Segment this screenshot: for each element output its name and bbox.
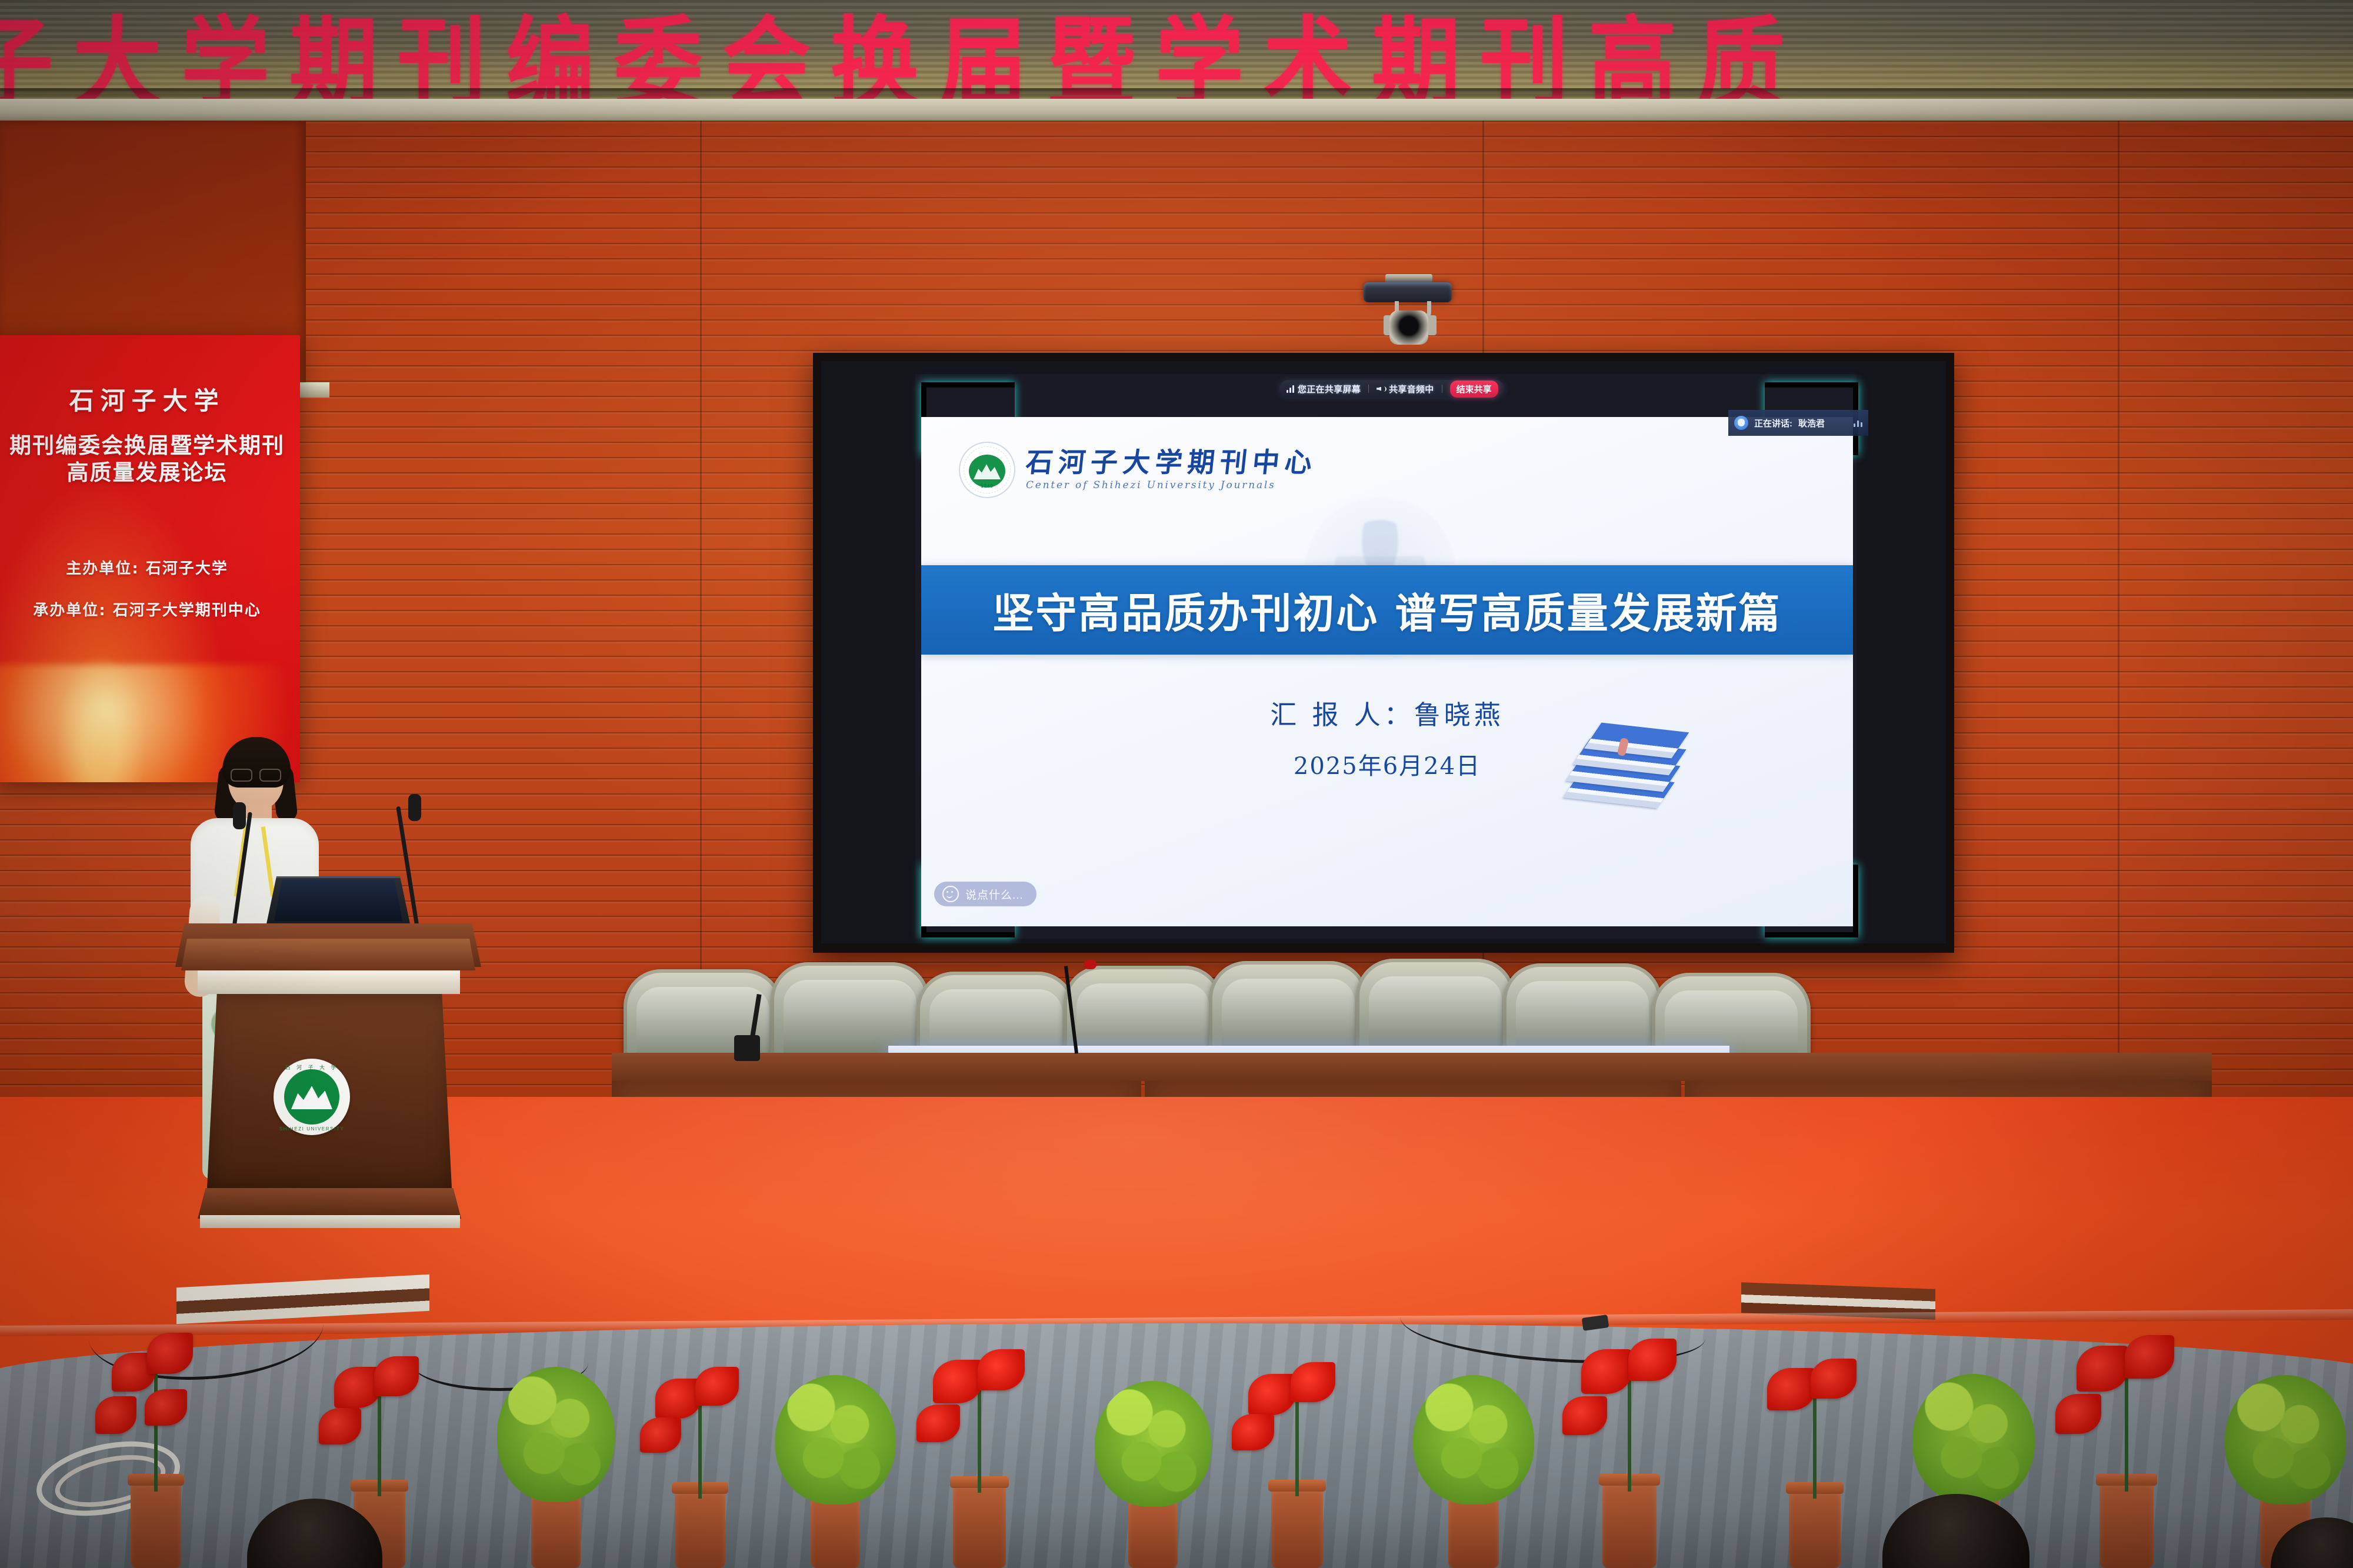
poinsettia-bloom [1248,1374,1295,1415]
gooseneck-microphone-icon [408,794,421,821]
chair [1356,959,1515,1060]
shihezi-university-emblem-icon: 石 河 子 大 学 1949 SHIHEZI UNIVERSITY [274,1059,350,1135]
poinsettia-bloom [933,1360,982,1403]
stacked-books-icon [1568,728,1698,810]
camera-side-ear [1427,315,1437,335]
presenter-glasses-icon [231,769,281,780]
microphone-avatar-icon [1734,416,1748,430]
potted-poinsettia [88,1315,224,1568]
screen-share-toolbar[interactable]: 您正在共享屏幕 共享音频中 结束共享 [1279,380,1504,398]
shihezi-university-seal-icon: 1949 [959,442,1015,498]
flower-pot [131,1480,181,1568]
potted-poinsettia [629,1345,771,1568]
camera-lens-icon [1389,311,1428,345]
wall-seam [700,121,702,1097]
org-logo-en: Center of Shihezi University Journals [1026,479,1317,491]
flower-pot [1128,1496,1178,1568]
conference-hall-scene: 子大学期刊编委会换届暨学术期刊高质 您正在共享屏幕 共享音频中 结束共享 [0,0,2353,1568]
poinsettia-bloom [655,1379,701,1419]
sharing-status: 您正在共享屏幕 [1287,383,1361,395]
voice-level-icon [1854,419,1862,427]
poinsettia-bloom [145,1389,187,1426]
slide-date-line: 2025年6月24日 [921,747,1853,781]
shrub-foliage [1413,1375,1534,1504]
active-speaker-name: 耿浩君 [1798,417,1825,429]
plant-stem [2125,1360,2128,1492]
emblem-arc-bottom: SHIHEZI UNIVERSITY [274,1126,350,1132]
slide-org-logo: 1949 石河子大学期刊中心 Center of Shihezi Univers… [959,442,1317,498]
wall-seam [2118,121,2119,1097]
potted-poinsettia [906,1333,1053,1568]
overhead-banner-text: 子大学期刊编委会换届暨学术期刊高质 [0,0,1805,99]
poinsettia-bloom [1628,1339,1677,1381]
shrub-foliage [497,1367,615,1502]
potted-poinsettia [1741,1345,1888,1568]
flower-pot [1448,1494,1499,1568]
potted-poinsettia [2047,1321,2206,1568]
potted-shrub [1400,1362,1547,1568]
slide-title-band: 坚守高品质办刊初心 谱写高质量发展新篇 [921,565,1853,655]
flower-pot [811,1494,860,1568]
active-speaker-chip: 正在讲话: 耿浩君 [1728,410,1868,436]
flower-pot [1602,1480,1657,1568]
toolbar-divider [1442,385,1442,393]
poinsettia-bloom [2125,1335,2174,1379]
poinsettia-bloom [640,1417,681,1453]
podium-base [198,1188,461,1219]
chat-input[interactable]: 说点什么... [934,882,1036,906]
flower-pot [2099,1480,2154,1568]
poinsettia-bloom [1581,1349,1632,1394]
flower-pot [953,1482,1006,1568]
chat-input-placeholder: 说点什么... [965,886,1024,902]
poinsettia-bloom [2077,1346,2128,1392]
podium-top-face [181,939,475,970]
table-microphone-base [734,1035,760,1061]
podium-accent-band [198,970,460,994]
shrub-foliage [775,1375,896,1504]
shrub-foliage [1095,1381,1211,1507]
sharing-status-label: 您正在共享屏幕 [1298,383,1361,395]
backdrop-event-title: 期刊编委会换届暨学术期刊高质量发展论坛 [0,432,300,487]
audio-status[interactable]: 共享音频中 [1377,383,1434,395]
poinsettia-bloom [374,1356,419,1396]
flower-pot [675,1488,725,1568]
overhead-banner: 子大学期刊编委会换届暨学术期刊高质 [0,0,2353,99]
potted-shrub [488,1350,624,1568]
event-backdrop-banner: 石河子大学 期刊编委会换届暨学术期刊高质量发展论坛 主办单位: 石河子大学 承办… [0,335,300,782]
plant-stem [1813,1381,1817,1499]
slide-title: 坚守高品质办刊初心 谱写高质量发展新篇 [992,581,1781,640]
flower-pot [531,1492,581,1568]
poinsettia-bloom [695,1367,739,1406]
signal-bars-icon [1287,385,1294,393]
slide-presenter-block: 汇 报 人：鲁晓燕 2025年6月24日 [921,693,1853,781]
toolbar-divider [1368,385,1369,393]
presentation-slide: 1949 石河子大学期刊中心 Center of Shihezi Univers… [921,417,1853,926]
laptop-screen [274,880,402,921]
smiley-icon[interactable] [942,886,959,902]
end-share-button[interactable]: 结束共享 [1450,381,1498,398]
slide-presenter-line: 汇 报 人：鲁晓燕 [921,693,1853,732]
backdrop-university: 石河子大学 [0,381,300,417]
poinsettia-bloom [1767,1368,1815,1410]
poinsettia-bloom [1811,1359,1857,1399]
shrub-foliage [1912,1374,2035,1504]
shrub-foliage [2225,1375,2346,1504]
seal-year: 1949 [960,483,1014,489]
poinsettia-bloom [95,1396,136,1434]
backdrop-host: 承办单位: 石河子大学期刊中心 [0,598,300,620]
poinsettia-bloom [1291,1362,1335,1402]
potted-poinsettia [1224,1345,1371,1568]
potted-shrub [1082,1368,1224,1568]
table-top [612,1053,2212,1081]
podium-base-band [200,1215,460,1228]
active-speaker-prefix: 正在讲话: [1754,417,1792,429]
gooseneck-microphone-icon [233,802,246,829]
poinsettia-bloom [2055,1394,2101,1434]
poinsettia-bloom [319,1408,361,1444]
potted-shrub [765,1362,906,1568]
poinsettia-bloom [147,1333,193,1374]
poinsettia-bloom [1232,1414,1274,1450]
flower-pot [1789,1488,1841,1568]
ceiling-camera-icon [1364,282,1452,302]
poinsettia-bloom [916,1404,960,1442]
audio-status-label: 共享音频中 [1389,383,1434,395]
poinsettia-bloom [978,1349,1025,1390]
table-microphone-head [1084,960,1096,969]
backdrop-organizer: 主办单位: 石河子大学 [0,556,300,578]
flower-pot [1271,1486,1323,1568]
potted-poinsettia [1553,1321,1706,1568]
speaker-icon [1377,385,1385,393]
emblem-year: 1949 [274,1113,350,1119]
ceiling-soffit [0,99,2353,122]
org-logo-cn: 石河子大学期刊中心 [1025,449,1319,476]
poinsettia-bloom [1562,1396,1607,1435]
